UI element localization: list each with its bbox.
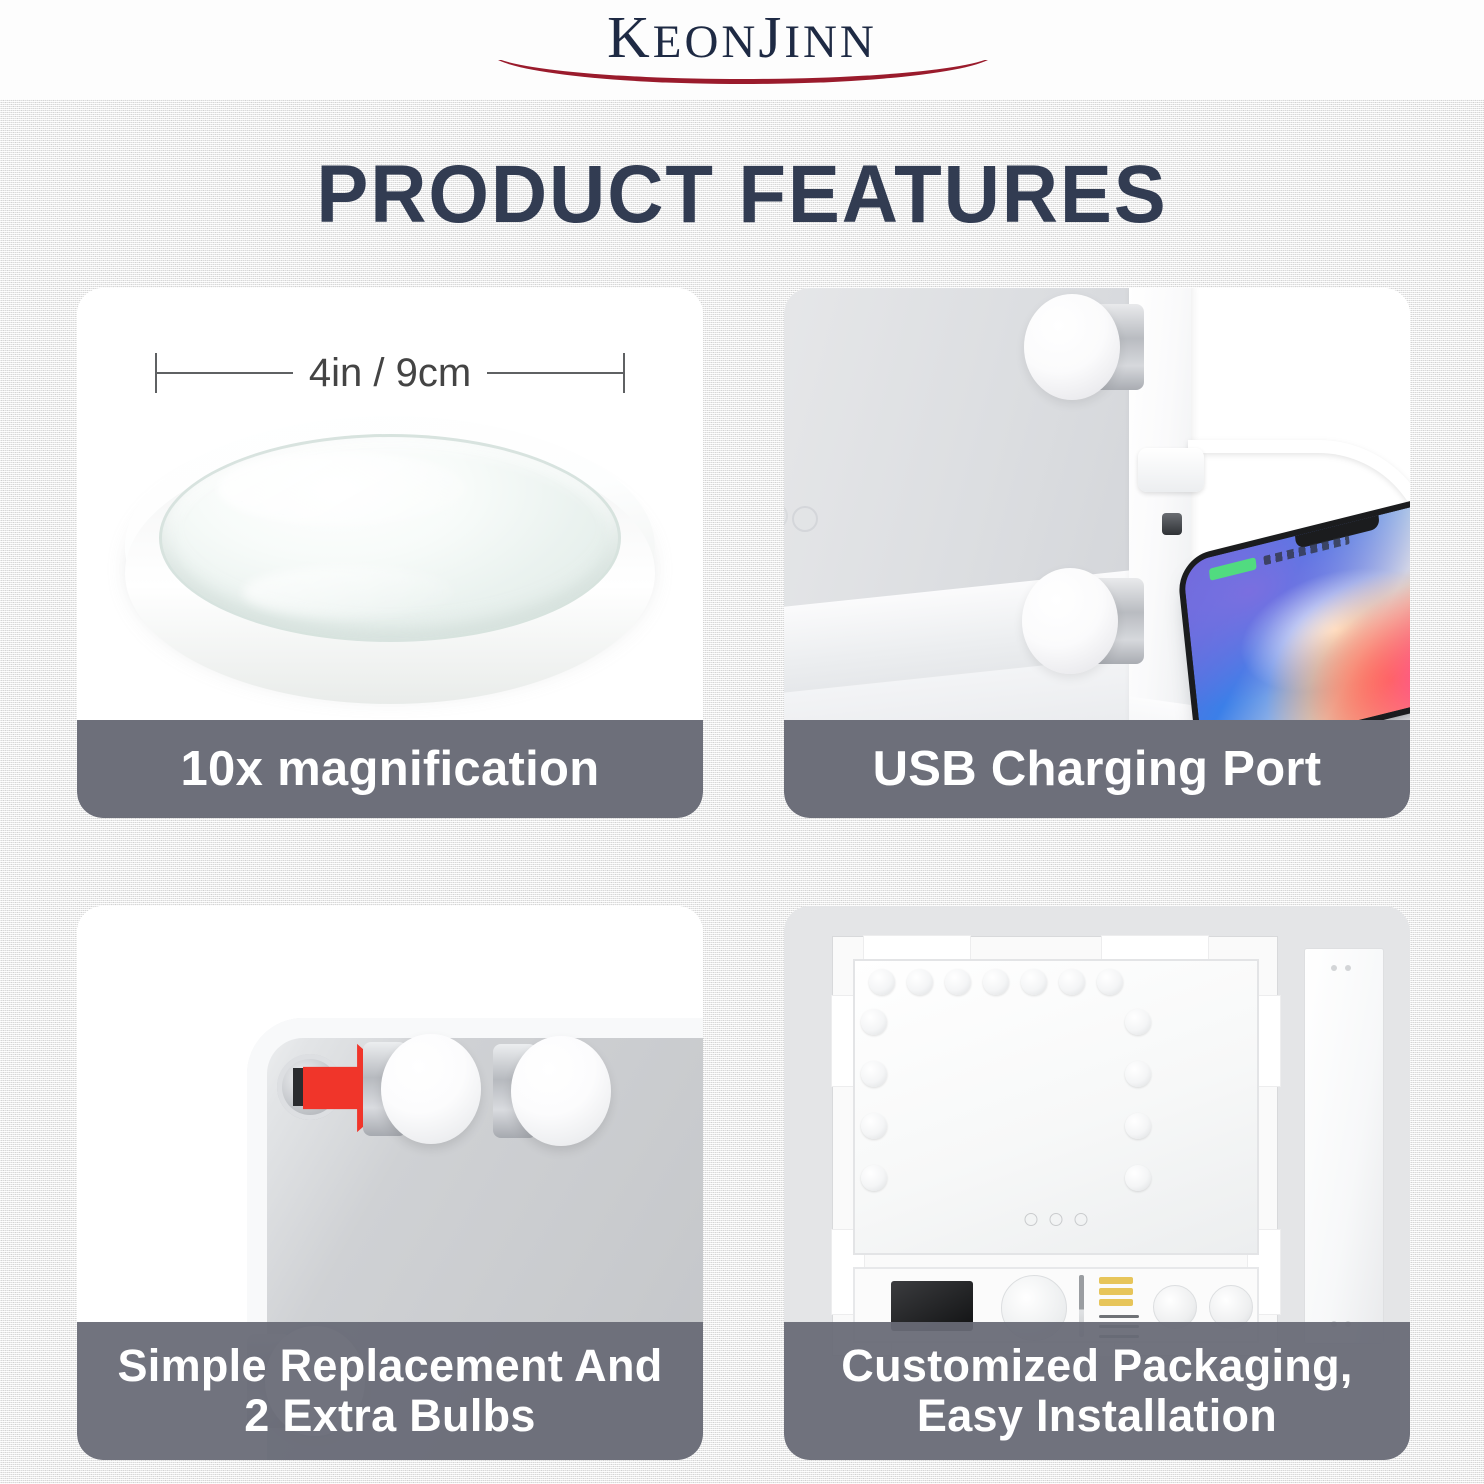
brand-swoosh-icon bbox=[490, 60, 996, 86]
caption-bulb-replacement: Simple Replacement And 2 Extra Bulbs bbox=[77, 1322, 703, 1460]
led-bulb-globe bbox=[1022, 568, 1118, 674]
caption-line-1: 10x magnification bbox=[181, 742, 600, 797]
usb-plug-icon bbox=[1138, 448, 1204, 492]
caption-magnification: 10x magnification bbox=[77, 720, 703, 818]
mini-bulb-l2 bbox=[861, 1061, 887, 1087]
mini-bulb-t5 bbox=[1021, 969, 1047, 995]
dimension-line-left bbox=[157, 372, 293, 374]
led-bulb-globe bbox=[381, 1034, 481, 1144]
mini-bulb-t6 bbox=[1059, 969, 1085, 995]
side-dot-top-1 bbox=[1331, 965, 1337, 971]
touch-dot-2 bbox=[1050, 1213, 1063, 1226]
mini-bulb-t1 bbox=[869, 969, 895, 995]
mini-bulb-l4 bbox=[861, 1165, 887, 1191]
feature-card-magnification[interactable]: 4in / 9cm 10x magnification bbox=[77, 288, 703, 818]
touch-controls bbox=[1025, 1213, 1088, 1226]
usb-port-icon bbox=[1162, 513, 1182, 535]
mini-bulb-l3 bbox=[861, 1113, 887, 1139]
screw-3 bbox=[1099, 1299, 1133, 1306]
screw-1 bbox=[1099, 1277, 1133, 1284]
mirror-in-box bbox=[853, 959, 1259, 1255]
side-accessory-panel bbox=[1304, 948, 1384, 1344]
battery-status-icon bbox=[1209, 557, 1257, 581]
mini-bulb-l1 bbox=[861, 1009, 887, 1035]
mini-bulb-r3 bbox=[1125, 1113, 1151, 1139]
mini-bulb-t4 bbox=[983, 969, 1009, 995]
caption-line-1: USB Charging Port bbox=[873, 742, 1322, 797]
touch-dot-1 bbox=[1025, 1213, 1038, 1226]
header-band: KEONJINN bbox=[0, 0, 1484, 99]
feature-card-packaging[interactable]: Customized Packaging, Easy Installation bbox=[784, 906, 1410, 1460]
feature-card-bulb-replacement[interactable]: Simple Replacement And 2 Extra Bulbs bbox=[77, 906, 703, 1460]
side-dot-top-2 bbox=[1345, 965, 1351, 971]
caption-usb-charging: USB Charging Port bbox=[784, 720, 1410, 818]
mini-bulb-r4 bbox=[1125, 1165, 1151, 1191]
lens-graphic bbox=[125, 416, 655, 706]
led-bulb-bottom bbox=[1022, 568, 1144, 680]
led-bulb-2 bbox=[493, 1036, 611, 1148]
infographic-page: KEONJINN PRODUCT FEATURES 4in / 9cm bbox=[0, 0, 1484, 1484]
dimension-indicator: 4in / 9cm bbox=[155, 350, 625, 396]
mini-bulb-t2 bbox=[907, 969, 933, 995]
caption-line-1: Simple Replacement And bbox=[117, 1341, 662, 1391]
dimension-cap-right bbox=[623, 353, 625, 393]
caption-line-1: Customized Packaging, bbox=[841, 1341, 1352, 1391]
lens-highlight-top bbox=[217, 452, 467, 526]
page-title: PRODUCT FEATURES bbox=[37, 148, 1447, 242]
feature-card-usb-charging[interactable]: USB Charging Port bbox=[784, 288, 1410, 818]
packaging-box bbox=[832, 936, 1278, 1356]
dimension-line-right bbox=[487, 372, 623, 374]
mini-bulb-t3 bbox=[945, 969, 971, 995]
touch-dot-3 bbox=[1075, 1213, 1088, 1226]
brand-logo: KEONJINN bbox=[462, 4, 1022, 96]
caption-packaging: Customized Packaging, Easy Installation bbox=[784, 1322, 1410, 1460]
mini-bulb-r1 bbox=[1125, 1009, 1151, 1035]
mini-bulb-r2 bbox=[1125, 1061, 1151, 1087]
led-bulb-1 bbox=[363, 1034, 481, 1146]
caption-line-2: Easy Installation bbox=[917, 1391, 1277, 1441]
lens-highlight-bottom bbox=[243, 566, 455, 618]
screw-2 bbox=[1099, 1288, 1133, 1295]
touch-control-icon bbox=[792, 506, 818, 532]
mini-bulb-t7 bbox=[1097, 969, 1123, 995]
dimension-label: 4in / 9cm bbox=[293, 351, 487, 396]
led-bulb-globe bbox=[511, 1036, 611, 1146]
caption-line-2: 2 Extra Bulbs bbox=[244, 1391, 536, 1441]
led-bulb-top bbox=[1024, 294, 1144, 404]
anchor-1 bbox=[1099, 1315, 1139, 1318]
led-bulb-globe bbox=[1024, 294, 1120, 400]
feature-card-grid: 4in / 9cm 10x magnification bbox=[77, 288, 1415, 1460]
